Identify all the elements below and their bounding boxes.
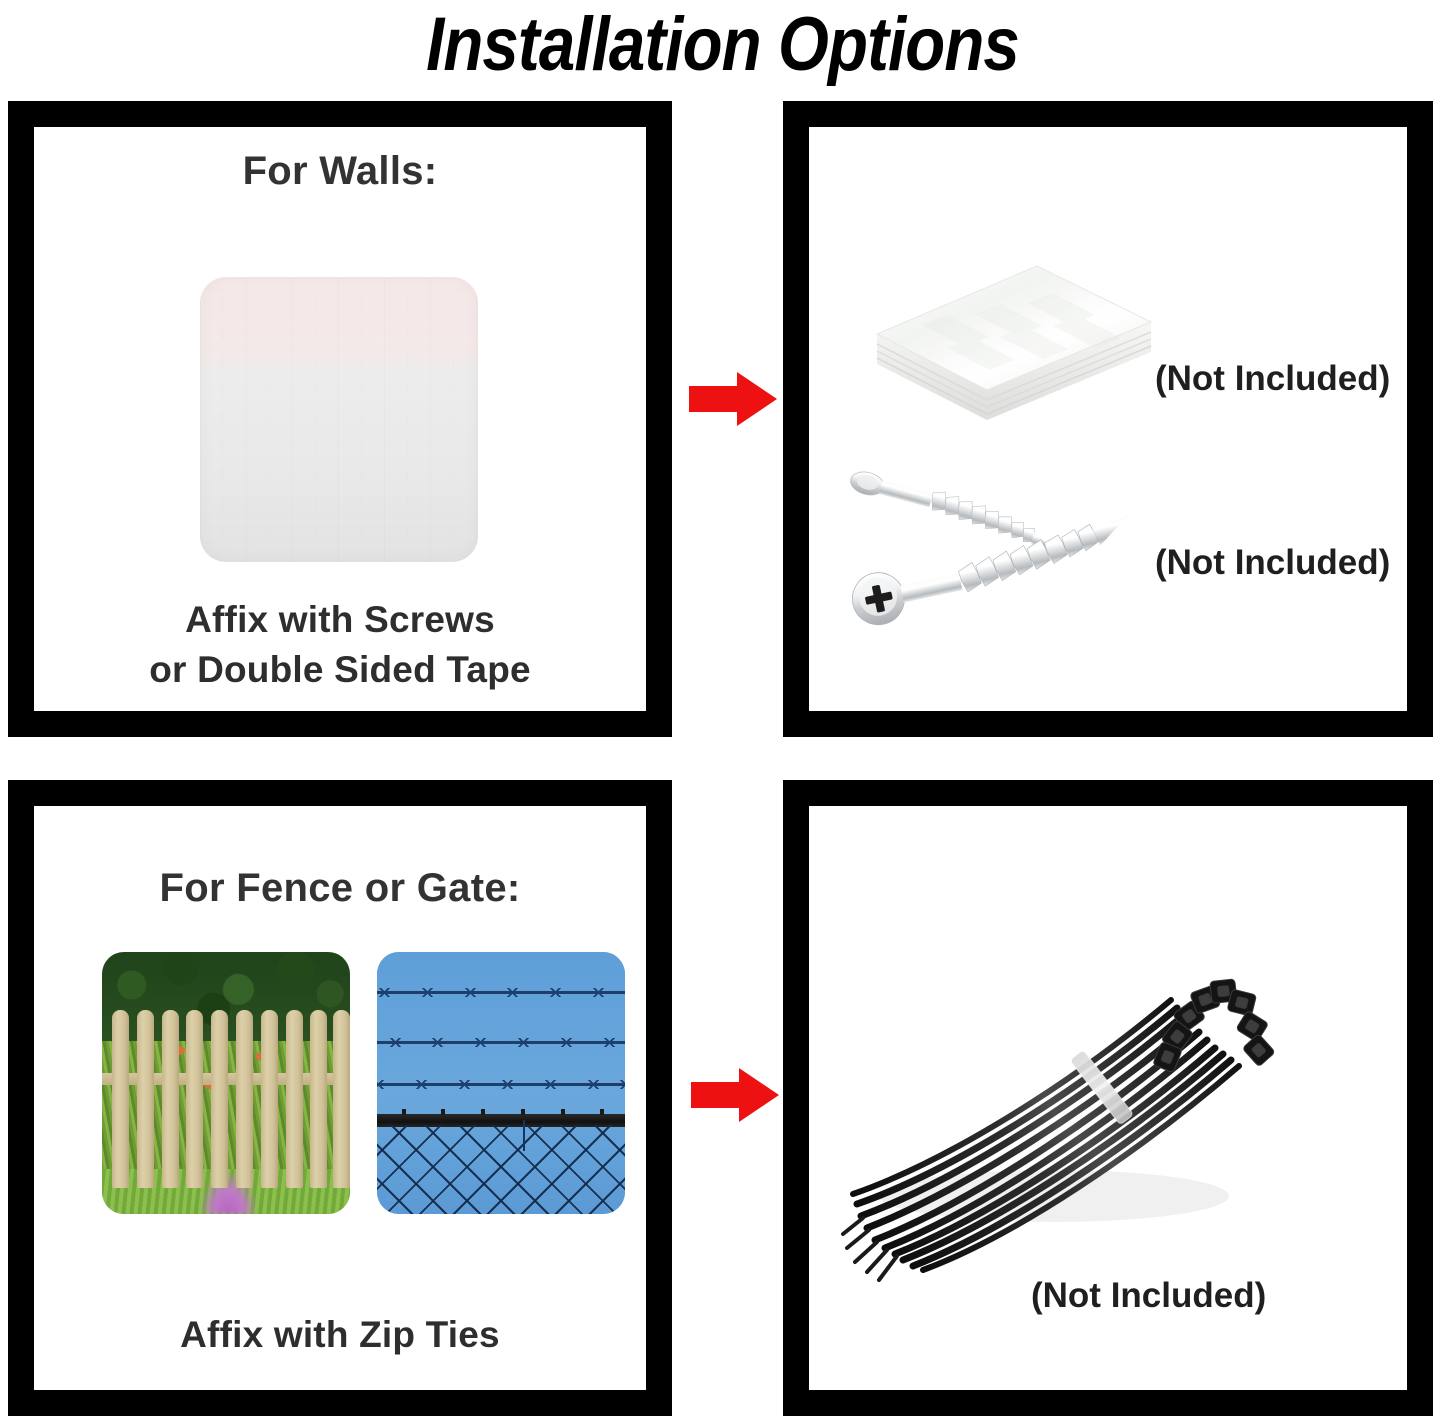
- black-zip-ties-bundle-photo: [839, 896, 1299, 1296]
- wooden-picket-fence-photo: [102, 952, 350, 1214]
- page-title: Installation Options: [101, 2, 1344, 88]
- panel-wall-hardware-content: (Not Included): [809, 127, 1407, 711]
- walls-caption-line-1: Affix with Screws: [34, 599, 646, 641]
- tape-not-included-label: (Not Included): [1155, 359, 1390, 399]
- panel-for-walls: For Walls: Affix with Screws or Double S…: [8, 101, 672, 737]
- red-arrow-right-icon: [691, 1068, 779, 1122]
- silver-screws-photo: [833, 457, 1193, 637]
- fence-caption: Affix with Zip Ties: [34, 1314, 646, 1356]
- panel-for-walls-content: For Walls: Affix with Screws or Double S…: [34, 127, 646, 711]
- panel-wall-hardware: (Not Included): [783, 101, 1433, 737]
- walls-caption-line-2: or Double Sided Tape: [34, 649, 646, 691]
- white-brick-wall-photo: [200, 277, 478, 562]
- panel-for-fence-or-gate-content: For Fence or Gate:: [34, 806, 646, 1390]
- screws-not-included-label: (Not Included): [1155, 543, 1390, 583]
- chain-link-barbed-wire-fence-photo: [377, 952, 625, 1214]
- for-fence-heading: For Fence or Gate:: [34, 866, 646, 911]
- for-walls-heading: For Walls:: [34, 149, 646, 194]
- installation-options-infographic: Installation Options For Walls: Affix wi…: [0, 0, 1445, 1422]
- panel-zip-ties: (Not Included): [783, 780, 1433, 1416]
- panel-for-fence-or-gate: For Fence or Gate:: [8, 780, 672, 1416]
- double-sided-tape-stack-photo: [869, 252, 1154, 427]
- panel-zip-ties-content: (Not Included): [809, 806, 1407, 1390]
- zipties-not-included-label: (Not Included): [1031, 1276, 1266, 1316]
- red-arrow-right-icon: [689, 372, 777, 426]
